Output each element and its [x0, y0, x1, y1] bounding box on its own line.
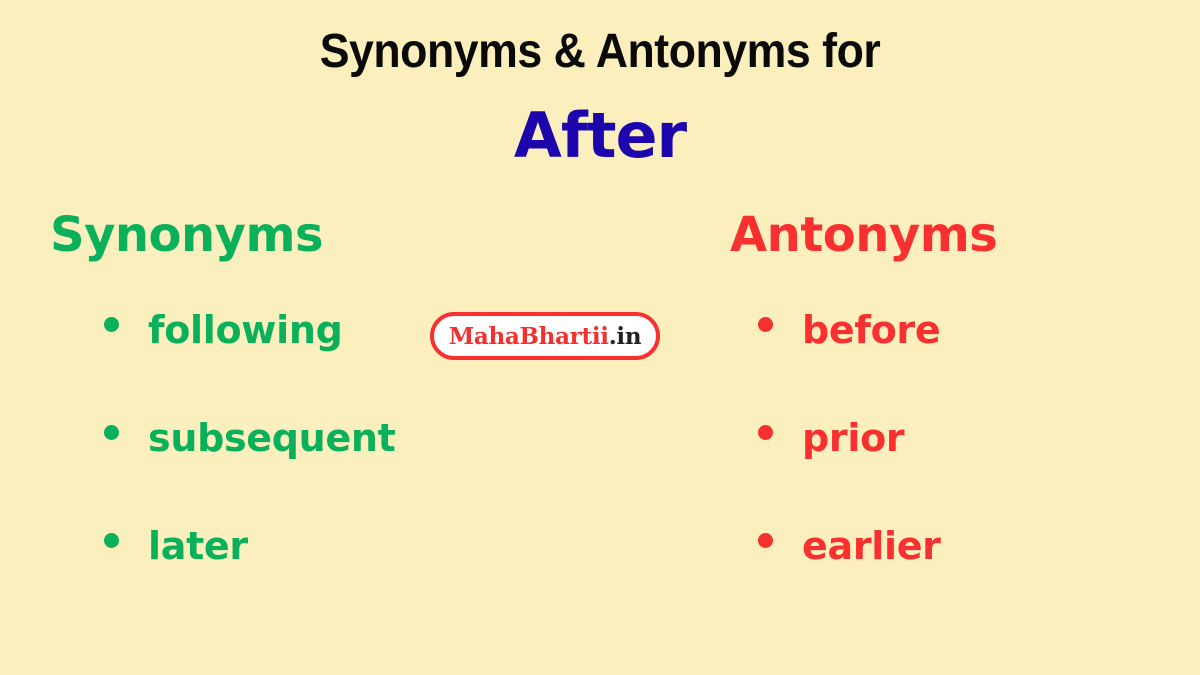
watermark-text: MahaBhartii.in [449, 325, 642, 348]
bullet-dot-icon [104, 317, 119, 332]
watermark-tld: .in [609, 323, 642, 350]
list-item: earlier [740, 527, 1200, 635]
list-item: subsequent [86, 419, 600, 527]
bullet-dot-icon [104, 533, 119, 548]
antonym-label: prior [802, 419, 904, 457]
bullet-dot-icon [758, 425, 773, 440]
poster-canvas: Synonyms & Antonyms for After Synonyms f… [0, 0, 1200, 675]
bullet-dot-icon [758, 533, 773, 548]
synonyms-column: Synonyms following subsequent later [0, 200, 600, 675]
bullet-dot-icon [104, 425, 119, 440]
synonyms-heading: Synonyms [50, 200, 600, 263]
list-item: later [86, 527, 600, 635]
poster-header: Synonyms & Antonyms for After [0, 0, 1200, 168]
synonym-label: following [148, 311, 342, 349]
list-item: before [740, 311, 1200, 419]
antonym-label: earlier [802, 527, 941, 565]
antonym-label: before [802, 311, 940, 349]
synonym-label: later [148, 527, 248, 565]
watermark-brand: MahaBhartii [449, 323, 609, 350]
synonym-label: subsequent [148, 419, 396, 457]
antonyms-column: Antonyms before prior earlier [600, 200, 1200, 675]
antonyms-list: before prior earlier [730, 263, 1200, 635]
watermark-badge: MahaBhartii.in [430, 312, 660, 360]
bullet-dot-icon [758, 317, 773, 332]
antonyms-heading: Antonyms [730, 200, 1200, 263]
list-item: prior [740, 419, 1200, 527]
page-title: Synonyms & Antonyms for [42, 0, 1158, 79]
headword: After [0, 79, 1200, 168]
word-columns: Synonyms following subsequent later Anto… [0, 200, 1200, 675]
